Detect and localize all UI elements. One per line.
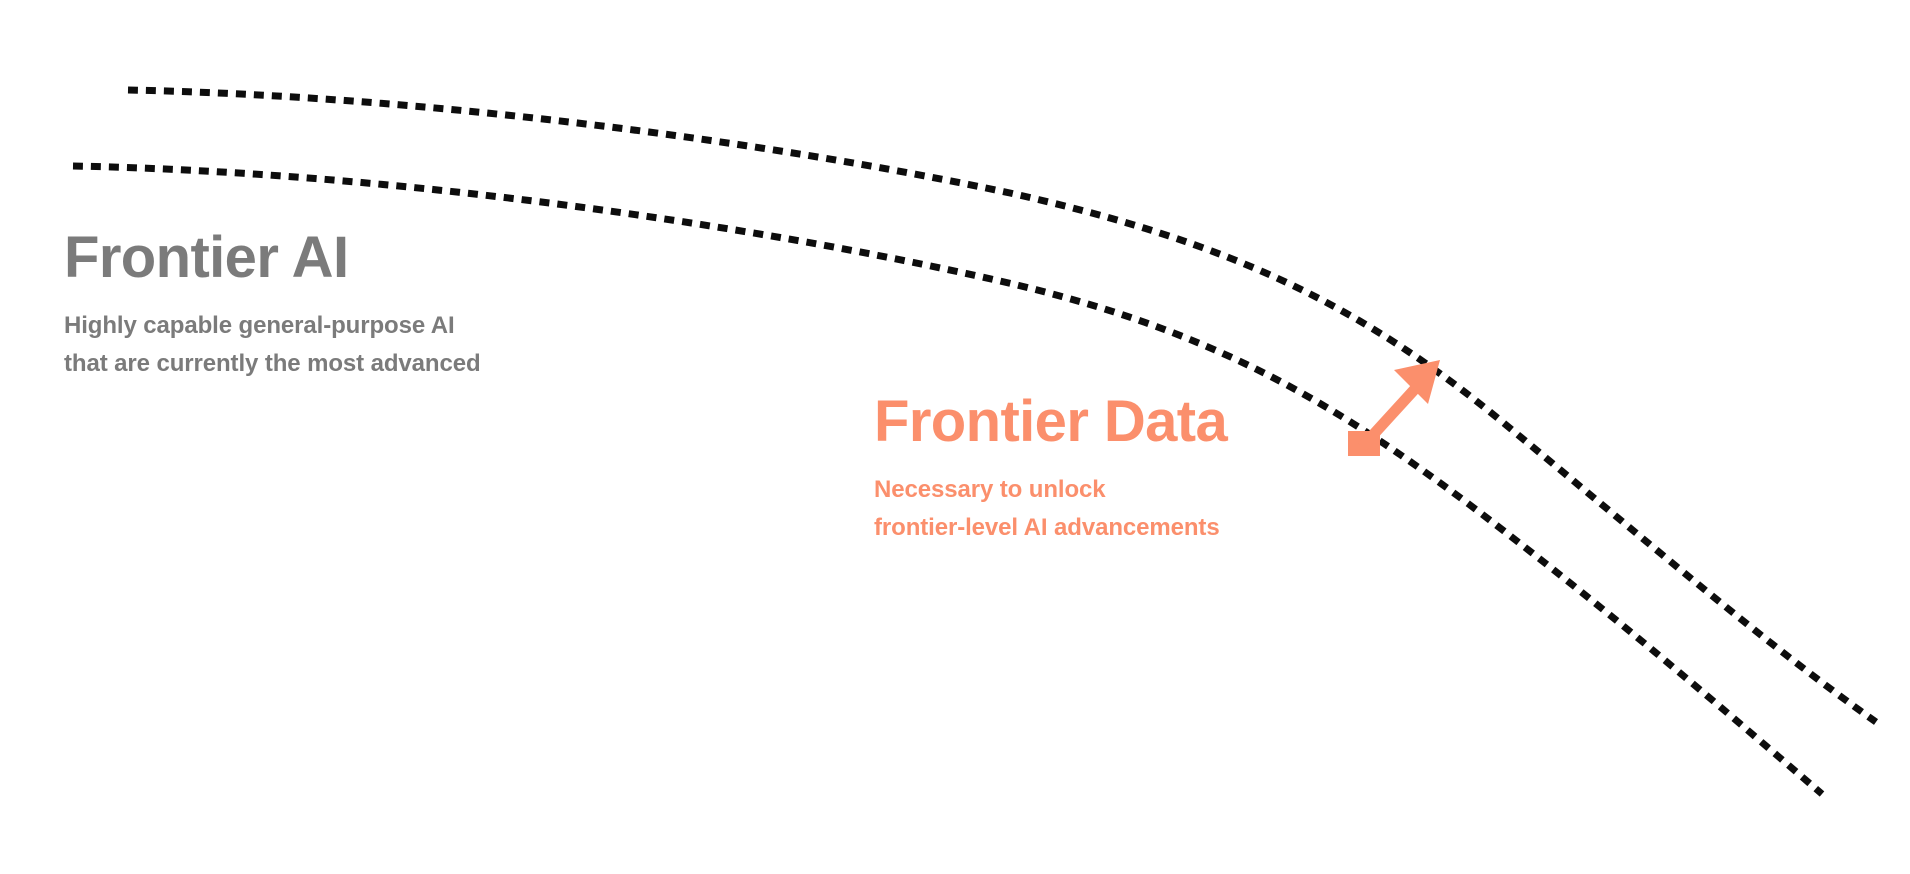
frontier-data-label-block: Frontier Data Necessary to unlock fronti…: [874, 392, 1227, 547]
frontier-ai-description: Highly capable general-purpose AI that a…: [64, 307, 481, 383]
frontier-data-heading: Frontier Data: [874, 392, 1227, 453]
frontier-data-description: Necessary to unlock frontier-level AI ad…: [874, 471, 1227, 547]
frontier-ai-label-block: Frontier AI Highly capable general-purpo…: [64, 228, 481, 383]
frontier-ai-heading: Frontier AI: [64, 228, 481, 289]
diagram-canvas: Frontier AI Highly capable general-purpo…: [0, 0, 1910, 874]
